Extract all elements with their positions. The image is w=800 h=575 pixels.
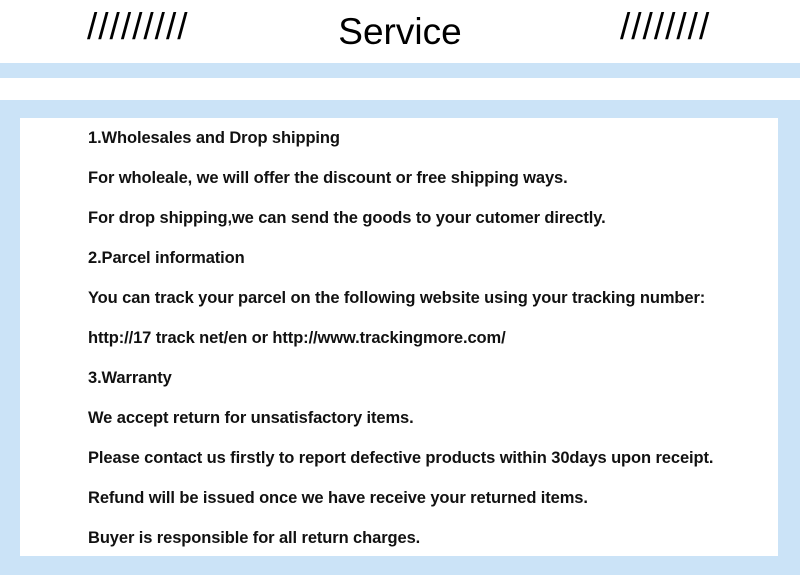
list-item: For wholeale, we will offer the discount… [88,158,768,198]
service-terms-list: 1.Wholesales and Drop shipping For whole… [88,118,768,556]
list-item: 2.Parcel information [88,238,768,278]
list-item: For drop shipping,we can send the goods … [88,198,768,238]
list-item: 3.Warranty [88,358,768,398]
slash-decoration-right-icon: //////// [620,8,710,45]
list-item: http://17 track net/en or http://www.tra… [88,318,768,358]
list-item: You can track your parcel on the followi… [88,278,768,318]
list-item: 1.Wholesales and Drop shipping [88,118,768,158]
content-card: 1.Wholesales and Drop shipping For whole… [20,118,778,556]
list-item: Buyer is responsible for all return char… [88,518,768,556]
list-item: Please contact us firstly to report defe… [88,438,768,478]
list-item: We accept return for unsatisfactory item… [88,398,768,438]
header-inner: ///////// Service //////// [0,0,800,63]
header-body-gap [0,78,800,100]
service-info-page: ///////// Service //////// 1.Wholesales … [0,0,800,575]
header-accent-band [0,63,800,78]
page-header: ///////// Service //////// [0,0,800,63]
list-item: Refund will be issued once we have recei… [88,478,768,518]
body-panel: 1.Wholesales and Drop shipping For whole… [0,100,800,575]
